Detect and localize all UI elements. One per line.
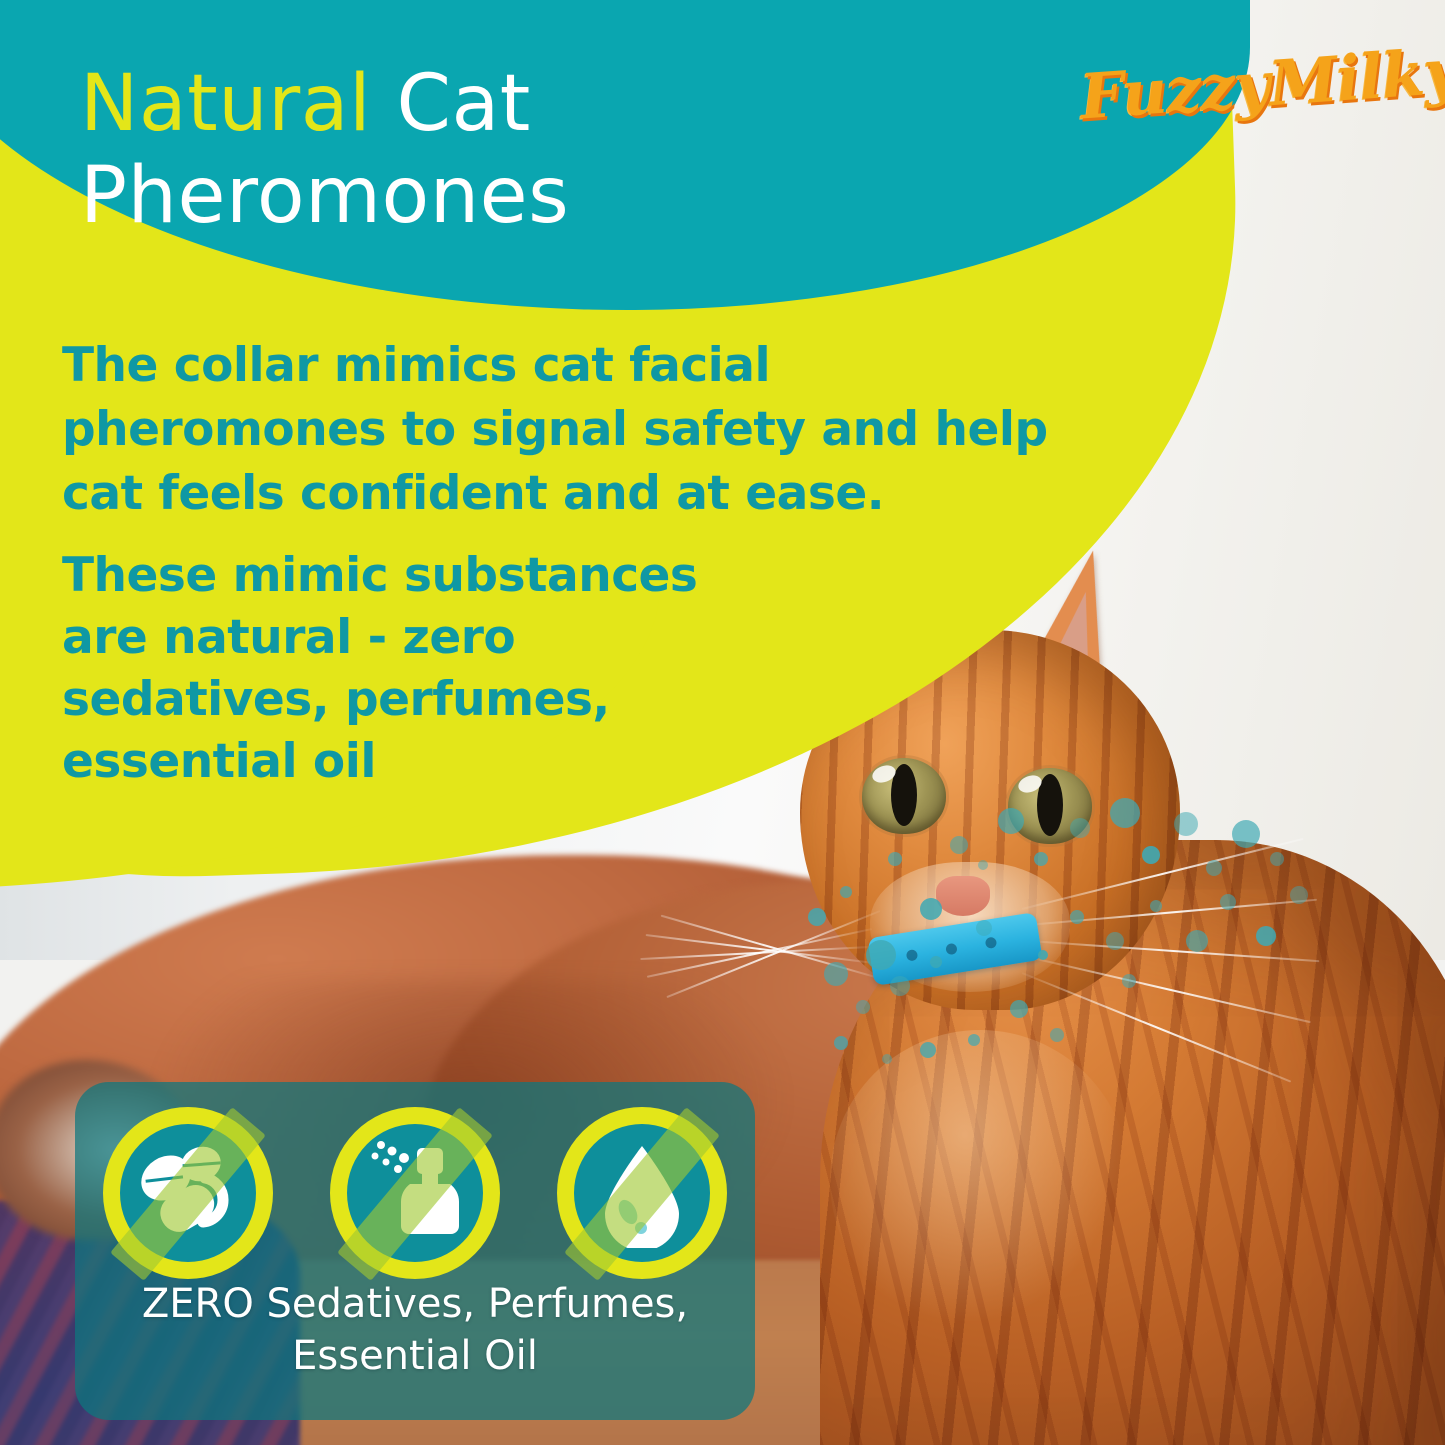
badge-icon-row [75,1098,755,1288]
badge-caption-line2: Essential Oil [292,1333,538,1379]
page-title: Natural Cat Pheromones [80,58,1080,242]
page-title-rest: Cat [397,59,531,149]
no-perfume-icon [330,1107,500,1279]
cat-chest-highlight [830,1030,1130,1330]
brand-logo: FuzzyMilky [1077,23,1414,156]
page-title-highlight: Natural [80,59,371,149]
body-paragraph-1: The collar mimics cat facial pheromones … [62,334,1062,526]
no-pills-icon [103,1107,273,1279]
promo-graphic: Natural Cat Pheromones FuzzyMilky The co… [0,0,1445,1445]
badge-caption: ZERO Sedatives, Perfumes, Essential Oil [75,1278,755,1382]
zero-ingredients-badge-panel: ZERO Sedatives, Perfumes, Essential Oil [75,1082,755,1420]
body-paragraph-2: These mimic substances are natural - zer… [62,545,722,793]
cat-eye-left [862,758,946,834]
cat-nose [936,876,990,916]
no-oil-drop-icon [557,1107,727,1279]
cat-eye-right [1008,768,1092,844]
page-title-line2: Pheromones [80,151,569,241]
badge-caption-line1: ZERO Sedatives, Perfumes, [142,1281,688,1327]
